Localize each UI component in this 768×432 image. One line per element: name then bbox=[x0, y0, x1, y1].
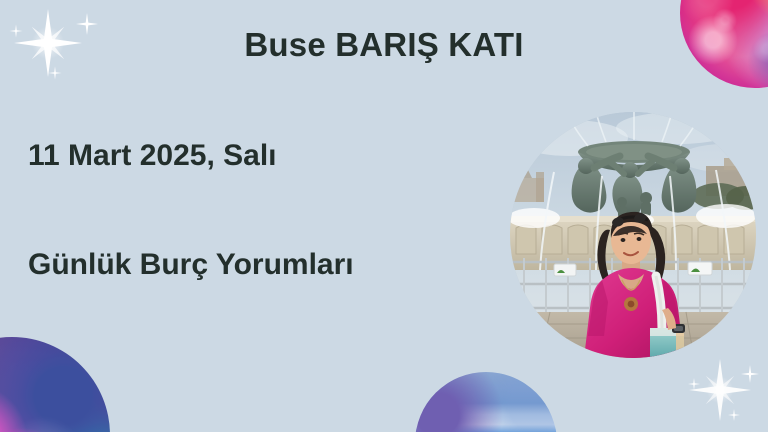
portrait-photo bbox=[510, 112, 756, 358]
star-icon bbox=[688, 378, 700, 390]
star-icon bbox=[728, 409, 740, 421]
blue-planet-decoration bbox=[415, 372, 557, 432]
subtitle-text: Günlük Burç Yorumları bbox=[28, 248, 354, 282]
date-text: 11 Mart 2025, Salı bbox=[28, 139, 277, 173]
galaxy-planet-decoration bbox=[0, 337, 110, 432]
page-title: Buse BARIŞ KATI bbox=[0, 26, 768, 64]
star-icon bbox=[741, 365, 759, 383]
sparkle-cluster-bottom-right bbox=[672, 342, 768, 432]
social-media-card: Buse BARIŞ KATI 11 Mart 2025, Salı Günlü… bbox=[0, 0, 768, 432]
star-icon bbox=[49, 67, 62, 80]
